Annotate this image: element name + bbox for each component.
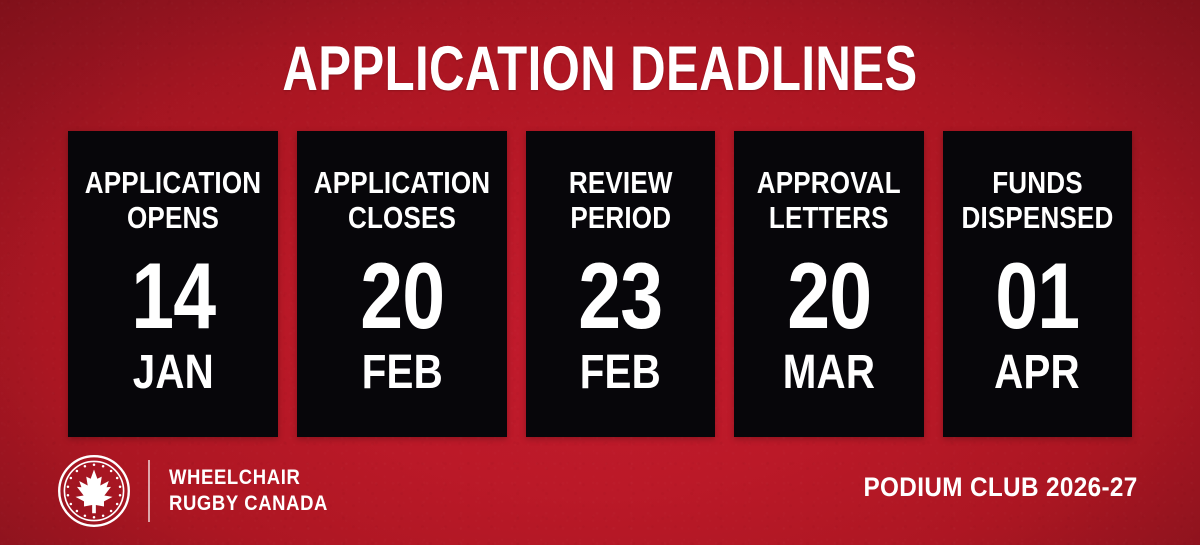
deadline-card-label-line1: REVIEW: [569, 165, 673, 200]
deadline-card-label-line2: DISPENSED: [961, 200, 1113, 235]
deadline-card-month: FEB: [361, 347, 442, 399]
deadline-card-label-line1: APPLICATION: [85, 165, 261, 200]
deadline-card-label: REVIEW PERIOD: [569, 165, 673, 235]
logo-divider: [148, 460, 150, 522]
deadline-card-label: FUNDS DISPENSED: [961, 165, 1113, 235]
poster-canvas: APPLICATION DEADLINES APPLICATION OPENS …: [0, 0, 1200, 545]
deadline-card-label-line2: CLOSES: [314, 200, 490, 235]
deadline-card: APPLICATION CLOSES 20 FEB: [297, 131, 507, 437]
deadline-card-month: FEB: [580, 347, 661, 399]
deadline-card-day: 20: [787, 249, 871, 343]
deadline-card-label-line2: LETTERS: [757, 200, 901, 235]
deadline-card-day: 20: [360, 249, 444, 343]
deadline-card-label-line2: OPENS: [85, 200, 261, 235]
organization-wordmark: WHEELCHAIR RUGBY CANADA: [169, 465, 328, 517]
organization-wordmark-line1: WHEELCHAIR: [169, 465, 328, 491]
deadline-card-month: APR: [995, 347, 1081, 399]
deadline-card: APPLICATION OPENS 14 JAN: [68, 131, 278, 437]
organization-wordmark-line2: RUGBY CANADA: [169, 491, 328, 517]
page-title: APPLICATION DEADLINES: [132, 36, 1068, 102]
deadline-card-month: MAR: [783, 347, 875, 399]
deadline-card: REVIEW PERIOD 23 FEB: [526, 131, 715, 437]
deadline-card-label-line2: PERIOD: [569, 200, 673, 235]
organization-logo-lockup: WHEELCHAIR RUGBY CANADA: [57, 452, 350, 530]
deadline-card-label-line1: APPROVAL: [757, 165, 901, 200]
deadline-card-label: APPLICATION CLOSES: [314, 165, 490, 235]
deadline-card-label: APPROVAL LETTERS: [757, 165, 901, 235]
program-label: PODIUM CLUB 2026-27: [864, 472, 1138, 502]
maple-leaf-roundel-icon: [57, 454, 131, 528]
deadline-card-day: 23: [579, 249, 663, 343]
deadline-card-day: 01: [995, 249, 1079, 343]
deadline-card-list: APPLICATION OPENS 14 JAN APPLICATION CLO…: [68, 131, 1132, 437]
deadline-card-month: JAN: [132, 347, 213, 399]
deadline-card-day: 14: [131, 249, 215, 343]
deadline-card-label-line1: FUNDS: [961, 165, 1113, 200]
deadline-card-label: APPLICATION OPENS: [85, 165, 261, 235]
deadline-card: APPROVAL LETTERS 20 MAR: [734, 131, 923, 437]
deadline-card: FUNDS DISPENSED 01 APR: [943, 131, 1132, 437]
deadline-card-label-line1: APPLICATION: [314, 165, 490, 200]
